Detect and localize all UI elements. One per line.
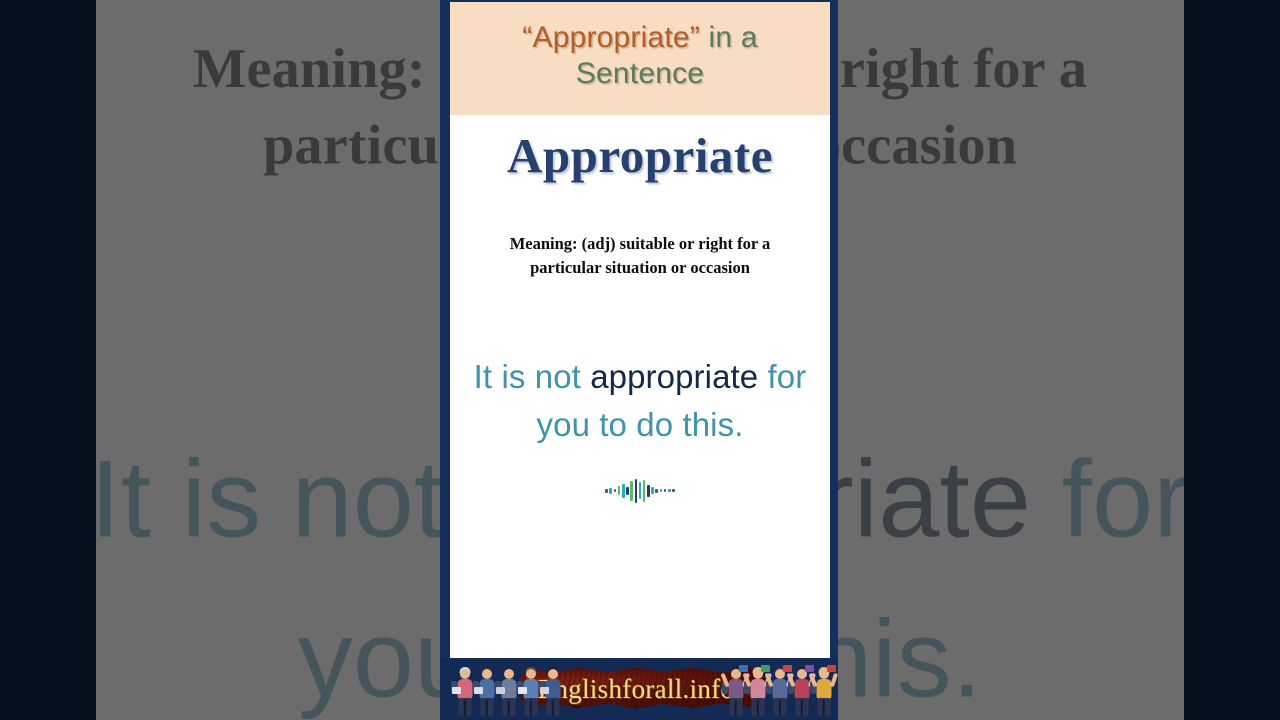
figure-body [750,679,765,699]
title-band: “Appropriate” in a Sentence [450,2,830,115]
card-title: “Appropriate” in a Sentence [468,20,812,91]
figure-legs [795,698,808,716]
left-letterbox [0,0,96,720]
waveform-bar-14 [664,489,667,492]
backdrop-sentence-part1: It is not [96,436,475,559]
figure-legs [502,698,515,716]
waveform-bar-0 [605,489,608,493]
waveform-bar-15 [668,489,671,492]
waveform-bar-3 [618,486,621,495]
waveform-bar-6 [630,481,633,501]
student-figure-2 [498,667,519,717]
figure-legs [729,698,742,716]
student-figure-4 [813,667,834,717]
figure-body [772,679,787,699]
student-figure-3 [520,667,541,717]
figure-legs [524,698,537,716]
sentence-highlight-word: appropriate [590,358,758,395]
figure-legs [458,698,471,716]
figure-book [452,687,461,694]
headword: Appropriate [507,127,773,184]
waveform-bar-11 [651,487,654,494]
figure-arm-right [830,673,838,688]
figure-book [474,687,483,694]
student-figure-0 [454,667,475,717]
figure-head [504,669,514,679]
figure-head [548,669,558,679]
figure-body [816,679,831,699]
figure-legs [773,698,786,716]
waveform-bar-5 [626,487,629,495]
waveform-bar-1 [609,488,612,494]
figure-head [482,669,492,679]
example-sentence: It is not appropriate for you to do this… [468,353,813,450]
figure-body [728,679,743,699]
video-frame: “Appropriate” in a Sentence Appropriate … [0,0,1280,720]
student-figure-1 [476,667,497,717]
sentence-part1: It is not [474,358,591,395]
figure-legs [817,698,830,716]
waveform-bar-7 [635,479,638,503]
figure-book [827,665,836,672]
figure-legs [480,698,493,716]
students-illustration-left [454,663,563,717]
figure-head [526,669,536,679]
students-illustration-right [725,663,834,717]
waveform-bar-4 [622,484,625,498]
brand-name: Englishforall.info [538,674,735,705]
waveform-bar-13 [660,489,663,492]
figure-head [460,669,470,679]
student-figure-4 [542,667,563,717]
waveform-bar-9 [643,480,646,502]
waveform-bar-2 [614,489,617,492]
figure-book [496,687,505,694]
right-letterbox [1184,0,1280,720]
title-quoted-word: “Appropriate” [522,21,700,54]
waveform-bar-8 [639,482,642,499]
meaning-text: Meaning: (adj) suitable or right for a p… [475,232,805,280]
waveform-bar-10 [647,485,650,497]
figure-body [794,679,809,699]
figure-legs [546,698,559,716]
lesson-card: “Appropriate” in a Sentence Appropriate … [450,2,830,658]
brand-footer: Englishforall.info [440,658,838,720]
figure-legs [751,698,764,716]
waveform-bar-16 [672,489,675,492]
figure-book [518,687,527,694]
waveform-bar-12 [655,489,658,493]
figure-book [540,687,549,694]
audio-waveform-icon[interactable] [605,478,675,504]
